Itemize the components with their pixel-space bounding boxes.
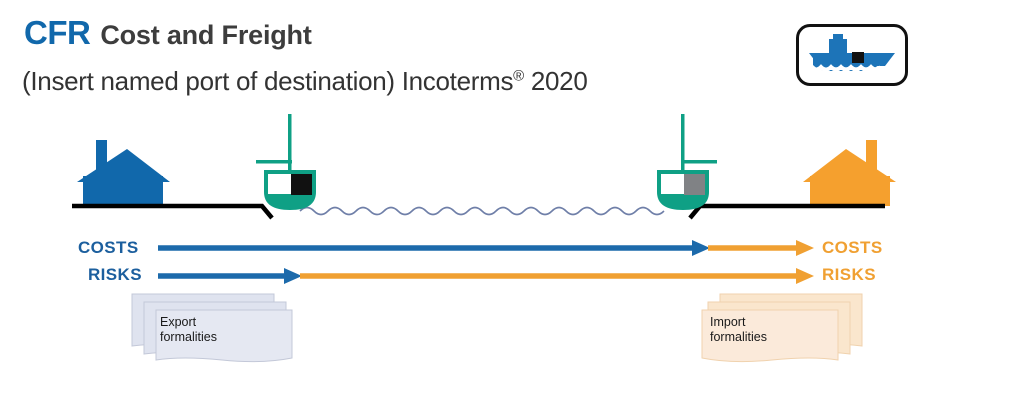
transport-scene: [0, 110, 1024, 230]
risks-label-seller: RISKS: [88, 265, 142, 285]
seller-quay-line: [72, 206, 272, 218]
seller-factory: [77, 140, 170, 206]
risks-arrow: [158, 268, 814, 284]
risks-label-buyer: RISKS: [822, 265, 876, 285]
incoterm-code: CFR: [24, 14, 90, 52]
costs-arrow: [158, 240, 814, 256]
water-line: [300, 208, 664, 215]
subtitle: (Insert named port of destination) Incot…: [22, 66, 588, 97]
transport-mode-badge: [796, 24, 908, 86]
incoterm-name: Cost and Freight: [100, 20, 311, 51]
costs-label-seller: COSTS: [78, 238, 139, 258]
origin-port-ship: [256, 114, 316, 210]
registered-mark: ®: [513, 67, 524, 84]
costs-label-buyer: COSTS: [822, 238, 883, 258]
incoterms-diagram: CFR Cost and Freight (Insert named port …: [0, 0, 1024, 403]
export-formalities-label: Export formalities: [160, 315, 217, 345]
page-title: CFR Cost and Freight: [24, 14, 312, 52]
destination-port-ship: [657, 114, 717, 210]
cargo-ship-icon: [799, 27, 905, 83]
subtitle-year: 2020: [524, 66, 588, 96]
buyer-quay-line: [690, 206, 885, 218]
buyer-factory: [803, 140, 896, 206]
import-formalities-label: Import formalities: [710, 315, 767, 345]
subtitle-main-text: (Insert named port of destination) Incot…: [22, 66, 513, 96]
